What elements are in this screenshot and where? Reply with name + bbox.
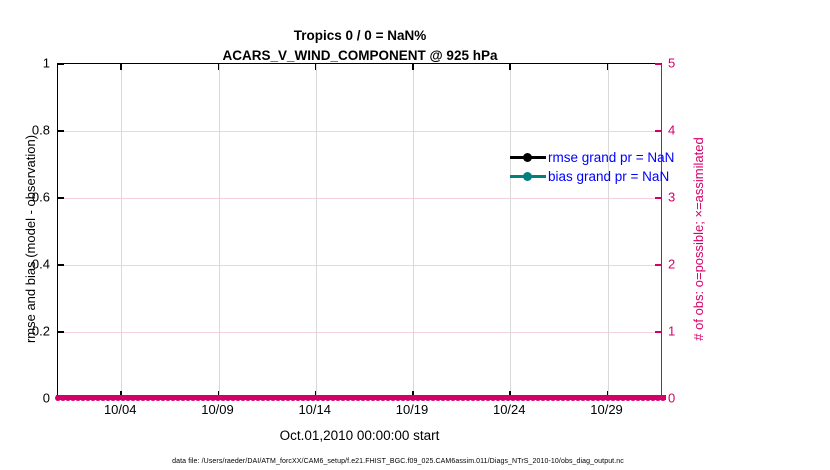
obs-assimilated-marker [516, 395, 521, 400]
obs-possible-marker [95, 395, 101, 401]
obs-possible-marker [205, 395, 211, 401]
obs-assimilated-marker [541, 395, 546, 400]
obs-possible-marker [535, 395, 541, 401]
obs-possible-marker [475, 395, 481, 401]
obs-assimilated-marker [81, 395, 86, 400]
obs-possible-marker [85, 395, 91, 401]
obs-possible-marker [420, 395, 426, 401]
x-axis-tick-top [412, 64, 414, 70]
vertical-gridline [413, 64, 414, 397]
obs-assimilated-marker [501, 395, 506, 400]
x-axis-tick-top [607, 64, 609, 70]
data-file-footer: data file: /Users/raeder/DAI/ATM_forcXX/… [0, 450, 796, 468]
obs-assimilated-marker [531, 395, 536, 400]
obs-possible-marker [615, 395, 621, 401]
y-axis-left-tick [58, 264, 64, 266]
obs-possible-marker [345, 395, 351, 401]
obs-assimilated-marker [476, 395, 481, 400]
obs-possible-marker [415, 395, 421, 401]
obs-assimilated-marker [366, 395, 371, 400]
obs-possible-marker [305, 395, 311, 401]
obs-assimilated-marker [71, 395, 76, 400]
vertical-gridline [219, 64, 220, 397]
obs-possible-marker [295, 395, 301, 401]
obs-assimilated-marker [396, 395, 401, 400]
obs-possible-marker [235, 395, 241, 401]
x-axis-tick-label: 10/14 [298, 402, 331, 417]
y-axis-left-tick [58, 63, 64, 65]
y-axis-right-tick-label: 5 [668, 56, 675, 71]
obs-possible-marker [200, 395, 206, 401]
obs-possible-marker [525, 395, 531, 401]
x-axis-tick [120, 391, 122, 397]
obs-possible-marker [150, 395, 156, 401]
obs-assimilated-marker [601, 395, 606, 400]
obs-possible-marker [430, 395, 436, 401]
obs-assimilated-marker [186, 395, 191, 400]
obs-assimilated-marker [306, 395, 311, 400]
obs-possible-marker [290, 395, 296, 401]
obs-assimilated-marker [561, 395, 566, 400]
obs-possible-marker [515, 395, 521, 401]
obs-possible-marker [130, 395, 136, 401]
obs-possible-marker [355, 395, 361, 401]
obs-possible-marker [590, 395, 596, 401]
obs-assimilated-marker [206, 395, 211, 400]
obs-possible-marker [640, 395, 646, 401]
obs-possible-marker [570, 395, 576, 401]
obs-possible-marker [455, 395, 461, 401]
y-axis-right-tick-label: 2 [668, 257, 675, 272]
x-axis-tick-label: 10/19 [396, 402, 429, 417]
obs-possible-marker [585, 395, 591, 401]
obs-assimilated-marker [451, 395, 456, 400]
obs-possible-marker [260, 395, 266, 401]
obs-assimilated-marker [201, 395, 206, 400]
obs-assimilated-marker [226, 395, 231, 400]
obs-possible-marker [405, 395, 411, 401]
obs-possible-marker [635, 395, 641, 401]
x-axis-tick [412, 391, 414, 397]
obs-possible-marker [170, 395, 176, 401]
obs-assimilated-marker [241, 395, 246, 400]
x-axis-tick-top [315, 64, 317, 70]
vertical-gridline [316, 64, 317, 397]
obs-assimilated-marker [641, 395, 646, 400]
obs-assimilated-marker [76, 395, 81, 400]
obs-possible-marker [400, 395, 406, 401]
obs-assimilated-marker [521, 395, 526, 400]
obs-possible-marker [450, 395, 456, 401]
vertical-gridline [608, 64, 609, 397]
obs-assimilated-marker [326, 395, 331, 400]
obs-possible-marker [335, 395, 341, 401]
y-axis-left-title-text: rmse and bias (model - observation) [23, 135, 38, 343]
diamond-marker [510, 152, 546, 164]
obs-assimilated-marker [421, 395, 426, 400]
obs-assimilated-marker [661, 395, 666, 400]
obs-assimilated-marker [281, 395, 286, 400]
obs-assimilated-marker [321, 395, 326, 400]
obs-possible-marker [90, 395, 96, 401]
obs-possible-marker [540, 395, 546, 401]
obs-assimilated-marker [496, 395, 501, 400]
obs-possible-marker [550, 395, 556, 401]
y-axis-right-tick [655, 130, 661, 132]
x-axis-tick-label: 10/04 [104, 402, 137, 417]
obs-possible-marker [140, 395, 146, 401]
x-axis-tick [315, 391, 317, 397]
obs-possible-marker [100, 395, 106, 401]
obs-possible-marker [465, 395, 471, 401]
obs-possible-marker [320, 395, 326, 401]
obs-assimilated-marker [461, 395, 466, 400]
obs-possible-marker [275, 395, 281, 401]
obs-possible-marker [490, 395, 496, 401]
y-axis-right-tick-label: 1 [668, 324, 675, 339]
y-axis-left-tick [58, 197, 64, 199]
obs-possible-marker [580, 395, 586, 401]
obs-assimilated-marker [586, 395, 591, 400]
obs-possible-marker [620, 395, 626, 401]
obs-possible-marker [435, 395, 441, 401]
vertical-gridline [510, 64, 511, 397]
circle-marker [510, 171, 546, 183]
obs-assimilated-marker [221, 395, 226, 400]
obs-assimilated-marker [626, 395, 631, 400]
chart-title-block: Tropics 0 / 0 = NaN% ACARS_V_WIND_COMPON… [0, 26, 720, 66]
obs-assimilated-marker [86, 395, 91, 400]
obs-possible-marker [460, 395, 466, 401]
obs-assimilated-marker [256, 395, 261, 400]
x-axis-title: Oct.01,2010 00:00:00 start [57, 427, 662, 445]
obs-possible-marker [105, 395, 111, 401]
obs-possible-marker [520, 395, 526, 401]
obs-assimilated-marker [156, 395, 161, 400]
y-axis-right-tick-label: 4 [668, 123, 675, 138]
obs-assimilated-marker [556, 395, 561, 400]
obs-possible-marker [280, 395, 286, 401]
obs-assimilated-marker [636, 395, 641, 400]
obs-possible-marker [250, 395, 256, 401]
y-axis-left-title: rmse and bias (model - observation) [22, 69, 40, 409]
obs-assimilated-marker [491, 395, 496, 400]
obs-assimilated-marker [551, 395, 556, 400]
obs-possible-marker [225, 395, 231, 401]
obs-possible-marker [180, 395, 186, 401]
obs-assimilated-marker [151, 395, 156, 400]
y-axis-right-title: # of obs: o=possible; ×=assimilated [690, 69, 708, 409]
y-axis-right-title-text: # of obs: o=possible; ×=assimilated [691, 137, 706, 340]
obs-assimilated-marker [106, 395, 111, 400]
obs-possible-marker [340, 395, 346, 401]
x-axis-tick-label: 10/24 [493, 402, 526, 417]
obs-assimilated-marker [261, 395, 266, 400]
obs-assimilated-marker [486, 395, 491, 400]
obs-possible-marker [80, 395, 86, 401]
y-axis-left-tick [58, 331, 64, 333]
obs-assimilated-marker [441, 395, 446, 400]
obs-possible-marker [210, 395, 216, 401]
obs-possible-marker [560, 395, 566, 401]
obs-assimilated-marker [361, 395, 366, 400]
obs-possible-marker [75, 395, 81, 401]
obs-assimilated-marker [111, 395, 116, 400]
x-axis-tick-top [120, 64, 122, 70]
obs-possible-marker [480, 395, 486, 401]
x-axis-tick-top [218, 64, 220, 70]
obs-possible-marker [70, 395, 76, 401]
data-file-path-text: data file: /Users/raeder/DAI/ATM_forcXX/… [172, 458, 624, 465]
obs-possible-marker [385, 395, 391, 401]
obs-assimilated-marker [611, 395, 616, 400]
obs-assimilated-marker [236, 395, 241, 400]
obs-assimilated-marker [536, 395, 541, 400]
obs-assimilated-marker [331, 395, 336, 400]
y-axis-left-tick [58, 398, 64, 400]
obs-possible-marker [395, 395, 401, 401]
obs-assimilated-marker [581, 395, 586, 400]
obs-assimilated-marker [141, 395, 146, 400]
obs-possible-marker [220, 395, 226, 401]
y-axis-right-tick-label: 3 [668, 190, 675, 205]
obs-assimilated-marker [191, 395, 196, 400]
obs-possible-marker [545, 395, 551, 401]
obs-possible-marker [160, 395, 166, 401]
y-axis-left-tick [58, 130, 64, 132]
obs-possible-marker [595, 395, 601, 401]
x-axis-tick [509, 391, 511, 397]
y-axis-right-tick [655, 398, 661, 400]
obs-possible-marker [470, 395, 476, 401]
obs-assimilated-marker [631, 395, 636, 400]
obs-assimilated-marker [546, 395, 551, 400]
obs-possible-marker [165, 395, 171, 401]
obs-assimilated-marker [96, 395, 101, 400]
obs-possible-marker [135, 395, 141, 401]
obs-assimilated-marker [431, 395, 436, 400]
obs-possible-marker [440, 395, 446, 401]
x-axis-tick [218, 391, 220, 397]
horizontal-gridline [58, 265, 661, 266]
obs-possible-marker [645, 395, 651, 401]
obs-possible-marker [390, 395, 396, 401]
obs-possible-marker [370, 395, 376, 401]
obs-possible-marker [380, 395, 386, 401]
obs-possible-marker [240, 395, 246, 401]
obs-assimilated-marker [566, 395, 571, 400]
obs-possible-marker [175, 395, 181, 401]
obs-assimilated-marker [616, 395, 621, 400]
obs-possible-marker [245, 395, 251, 401]
obs-possible-marker [155, 395, 161, 401]
obs-assimilated-marker [301, 395, 306, 400]
obs-assimilated-marker [386, 395, 391, 400]
obs-possible-marker [485, 395, 491, 401]
obs-assimilated-marker [456, 395, 461, 400]
obs-assimilated-marker [276, 395, 281, 400]
obs-assimilated-marker [436, 395, 441, 400]
obs-possible-marker [195, 395, 201, 401]
obs-assimilated-marker [376, 395, 381, 400]
horizontal-gridline [58, 198, 661, 199]
obs-possible-marker [425, 395, 431, 401]
y-axis-right-tick [655, 331, 661, 333]
obs-assimilated-marker [176, 395, 181, 400]
obs-possible-marker [565, 395, 571, 401]
obs-possible-marker [445, 395, 451, 401]
obs-possible-marker [255, 395, 261, 401]
obs-assimilated-marker [526, 395, 531, 400]
obs-assimilated-marker [351, 395, 356, 400]
obs-possible-marker [600, 395, 606, 401]
obs-assimilated-marker [166, 395, 171, 400]
y-axis-right-tick-label: 0 [668, 391, 675, 406]
obs-assimilated-marker [341, 395, 346, 400]
x-axis-tick-top [509, 64, 511, 70]
y-axis-left-tick-label: 0 [43, 391, 50, 406]
legend-item-label: bias grand pr = NaN [548, 169, 669, 184]
x-axis-tick-label: 10/09 [201, 402, 234, 417]
obs-possible-marker [285, 395, 291, 401]
obs-assimilated-marker [621, 395, 626, 400]
obs-assimilated-marker [401, 395, 406, 400]
plot-area[interactable]: rmse grand pr = NaNbias grand pr = NaN [57, 63, 662, 398]
obs-assimilated-marker [266, 395, 271, 400]
obs-assimilated-marker [571, 395, 576, 400]
obs-assimilated-marker [596, 395, 601, 400]
vertical-gridline [121, 64, 122, 397]
obs-possible-marker [610, 395, 616, 401]
chart-title-line-1: Tropics 0 / 0 = NaN% [0, 26, 720, 46]
y-axis-left-tick-label: 1 [43, 56, 50, 71]
obs-assimilated-marker [101, 395, 106, 400]
obs-possible-marker [360, 395, 366, 401]
obs-assimilated-marker [286, 395, 291, 400]
obs-assimilated-marker [336, 395, 341, 400]
obs-possible-marker [365, 395, 371, 401]
obs-assimilated-marker [591, 395, 596, 400]
obs-assimilated-marker [466, 395, 471, 400]
obs-assimilated-marker [271, 395, 276, 400]
y-axis-right-tick [655, 63, 661, 65]
obs-possible-marker [300, 395, 306, 401]
obs-assimilated-marker [391, 395, 396, 400]
obs-assimilated-marker [446, 395, 451, 400]
obs-assimilated-marker [246, 395, 251, 400]
horizontal-gridline [58, 332, 661, 333]
obs-possible-marker [230, 395, 236, 401]
obs-possible-marker [330, 395, 336, 401]
obs-possible-marker [125, 395, 131, 401]
obs-possible-marker [575, 395, 581, 401]
obs-assimilated-marker [511, 395, 516, 400]
obs-assimilated-marker [426, 395, 431, 400]
obs-assimilated-marker [136, 395, 141, 400]
obs-assimilated-marker [646, 395, 651, 400]
obs-assimilated-marker [66, 395, 71, 400]
obs-possible-marker [495, 395, 501, 401]
obs-assimilated-marker [196, 395, 201, 400]
obs-assimilated-marker [471, 395, 476, 400]
obs-assimilated-marker [251, 395, 256, 400]
obs-assimilated-marker [346, 395, 351, 400]
obs-possible-marker [375, 395, 381, 401]
observation-count-series [58, 392, 661, 401]
x-axis-tick [607, 391, 609, 397]
x-axis-tick-label: 10/29 [590, 402, 623, 417]
y-axis-right-tick [655, 264, 661, 266]
legend-item-label: rmse grand pr = NaN [548, 150, 674, 165]
obs-assimilated-marker [576, 395, 581, 400]
y-axis-right-tick-labels: 012345 [668, 63, 692, 398]
obs-possible-marker [630, 395, 636, 401]
obs-possible-marker [325, 395, 331, 401]
obs-assimilated-marker [231, 395, 236, 400]
obs-possible-marker [190, 395, 196, 401]
obs-assimilated-marker [416, 395, 421, 400]
x-axis-title-text: Oct.01,2010 00:00:00 start [280, 428, 440, 443]
obs-assimilated-marker [91, 395, 96, 400]
obs-possible-marker [530, 395, 536, 401]
obs-possible-marker [500, 395, 506, 401]
obs-assimilated-marker [296, 395, 301, 400]
obs-assimilated-marker [291, 395, 296, 400]
grid-layer [58, 64, 661, 397]
obs-assimilated-marker [146, 395, 151, 400]
obs-possible-marker [110, 395, 116, 401]
x-axis-tick-labels: 10/0410/0910/1410/1910/2410/29 [57, 402, 662, 422]
horizontal-gridline [58, 131, 661, 132]
obs-possible-marker [65, 395, 71, 401]
obs-possible-marker [555, 395, 561, 401]
obs-assimilated-marker [406, 395, 411, 400]
obs-assimilated-marker [171, 395, 176, 400]
obs-possible-marker [350, 395, 356, 401]
obs-assimilated-marker [181, 395, 186, 400]
obs-possible-marker [625, 395, 631, 401]
obs-assimilated-marker [381, 395, 386, 400]
y-axis-right-tick [655, 197, 661, 199]
obs-possible-marker [270, 395, 276, 401]
obs-possible-marker [145, 395, 151, 401]
obs-assimilated-marker [356, 395, 361, 400]
obs-assimilated-marker [371, 395, 376, 400]
obs-possible-marker [265, 395, 271, 401]
obs-assimilated-marker [481, 395, 486, 400]
obs-assimilated-marker [131, 395, 136, 400]
obs-assimilated-marker [126, 395, 131, 400]
obs-possible-marker [185, 395, 191, 401]
obs-assimilated-marker [211, 395, 216, 400]
obs-assimilated-marker [161, 395, 166, 400]
